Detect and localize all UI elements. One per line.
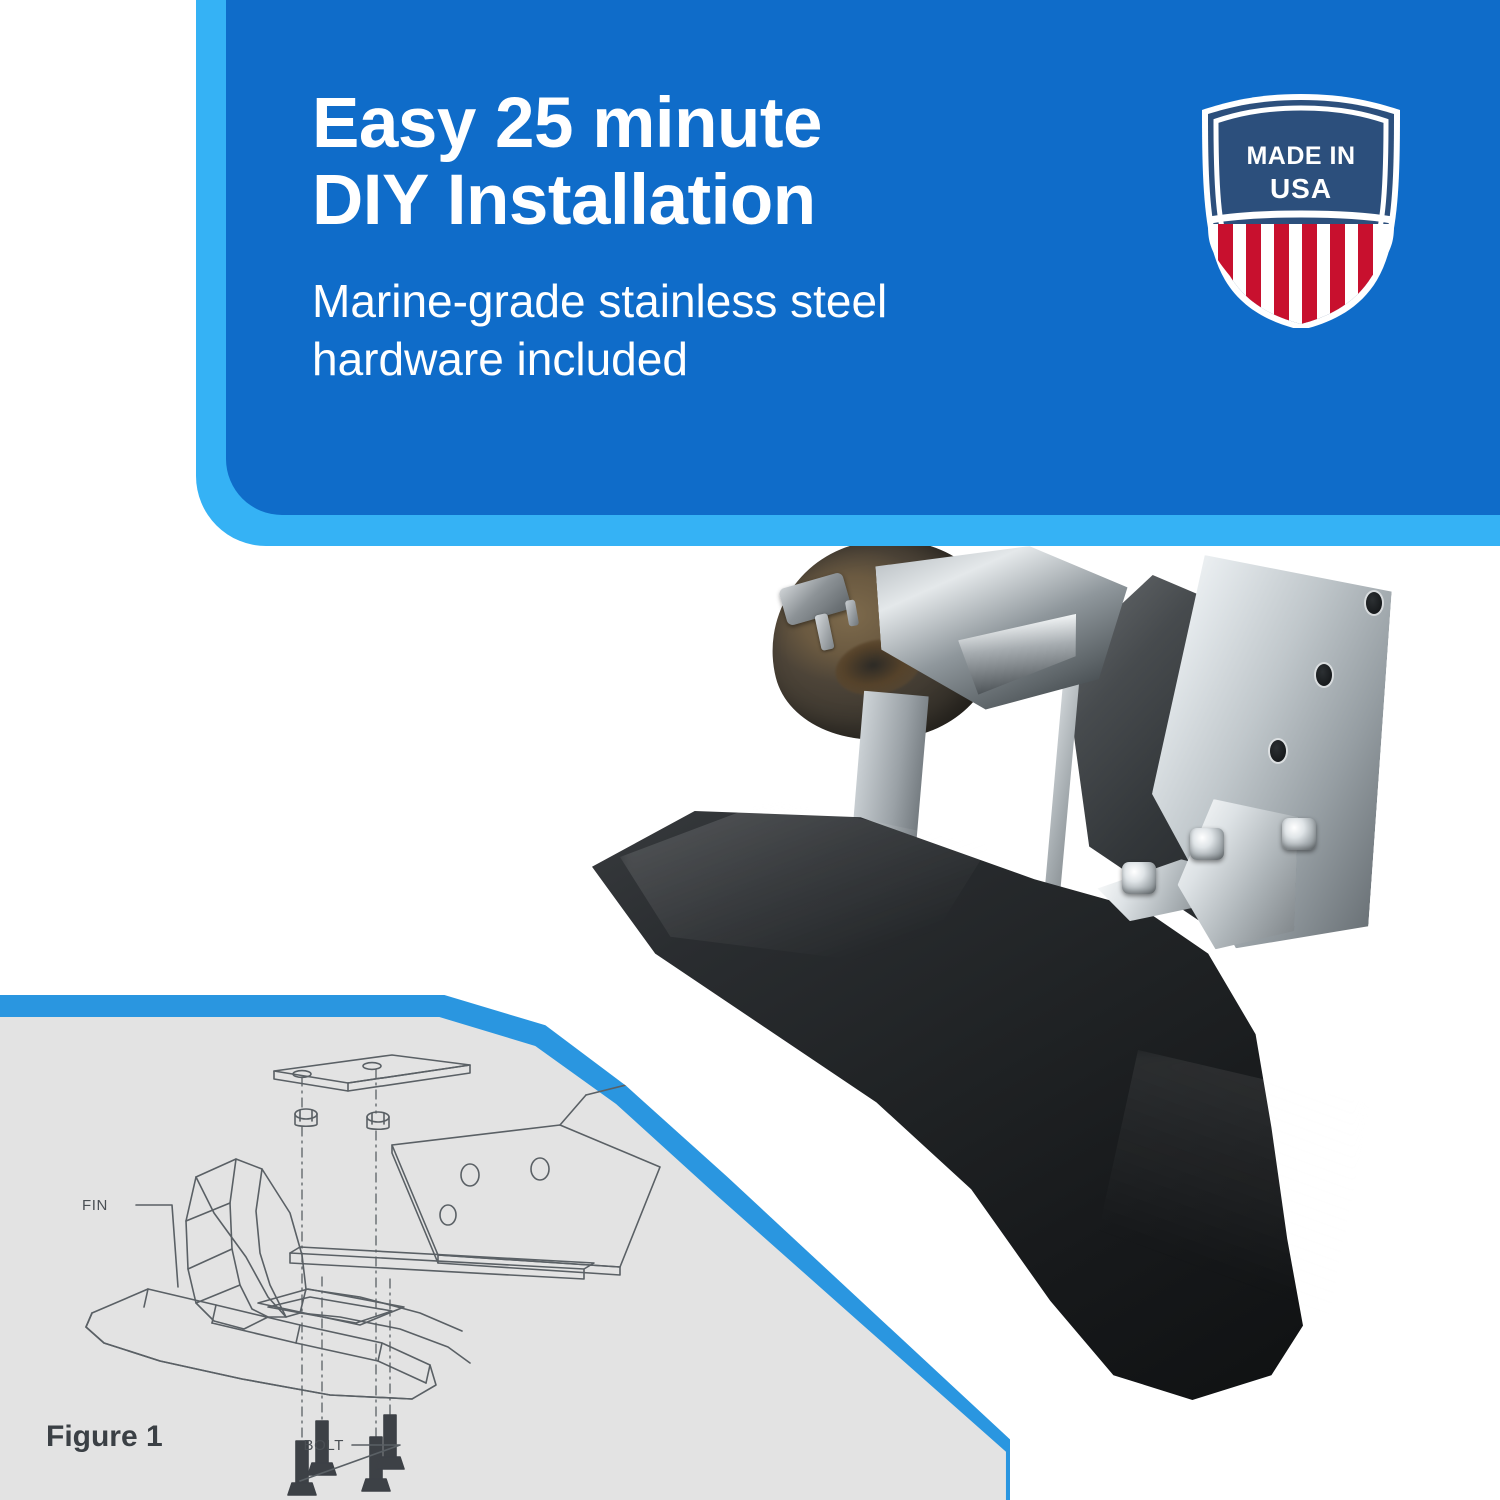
- page-title: Easy 25 minute DIY Installation: [312, 86, 1012, 239]
- badge-line2: USA: [1270, 173, 1332, 204]
- diagram-label-bolt: BOLT: [304, 1437, 344, 1454]
- banner-text-block: Easy 25 minute DIY Installation Marine-g…: [312, 86, 1012, 389]
- figure-caption: Figure 1: [46, 1420, 163, 1454]
- diagram-label-fin: FIN: [82, 1197, 108, 1214]
- mounting-hole-icon: [1316, 664, 1332, 686]
- page-subtitle: Marine-grade stainless steel hardware in…: [312, 273, 1012, 389]
- diagram-mounting-plate: [392, 1079, 660, 1275]
- made-in-usa-badge: MADE IN USA: [1196, 92, 1406, 328]
- mounting-hole-icon: [1366, 592, 1382, 614]
- leader-line-fin: [136, 1205, 178, 1287]
- diagram-top-plate: [274, 1055, 470, 1091]
- product-marketing-image: Easy 25 minute DIY Installation Marine-g…: [0, 0, 1500, 1500]
- hex-bolt-icon: [1282, 818, 1316, 850]
- shield-stripes: [1208, 218, 1394, 328]
- diagram-nut: [295, 1109, 317, 1126]
- hex-bolt-icon: [1122, 862, 1156, 894]
- diagram-nut: [367, 1112, 389, 1129]
- hex-bolt-icon: [1190, 828, 1224, 860]
- badge-line1: MADE IN: [1246, 142, 1355, 170]
- mounting-hole-icon: [1270, 740, 1286, 762]
